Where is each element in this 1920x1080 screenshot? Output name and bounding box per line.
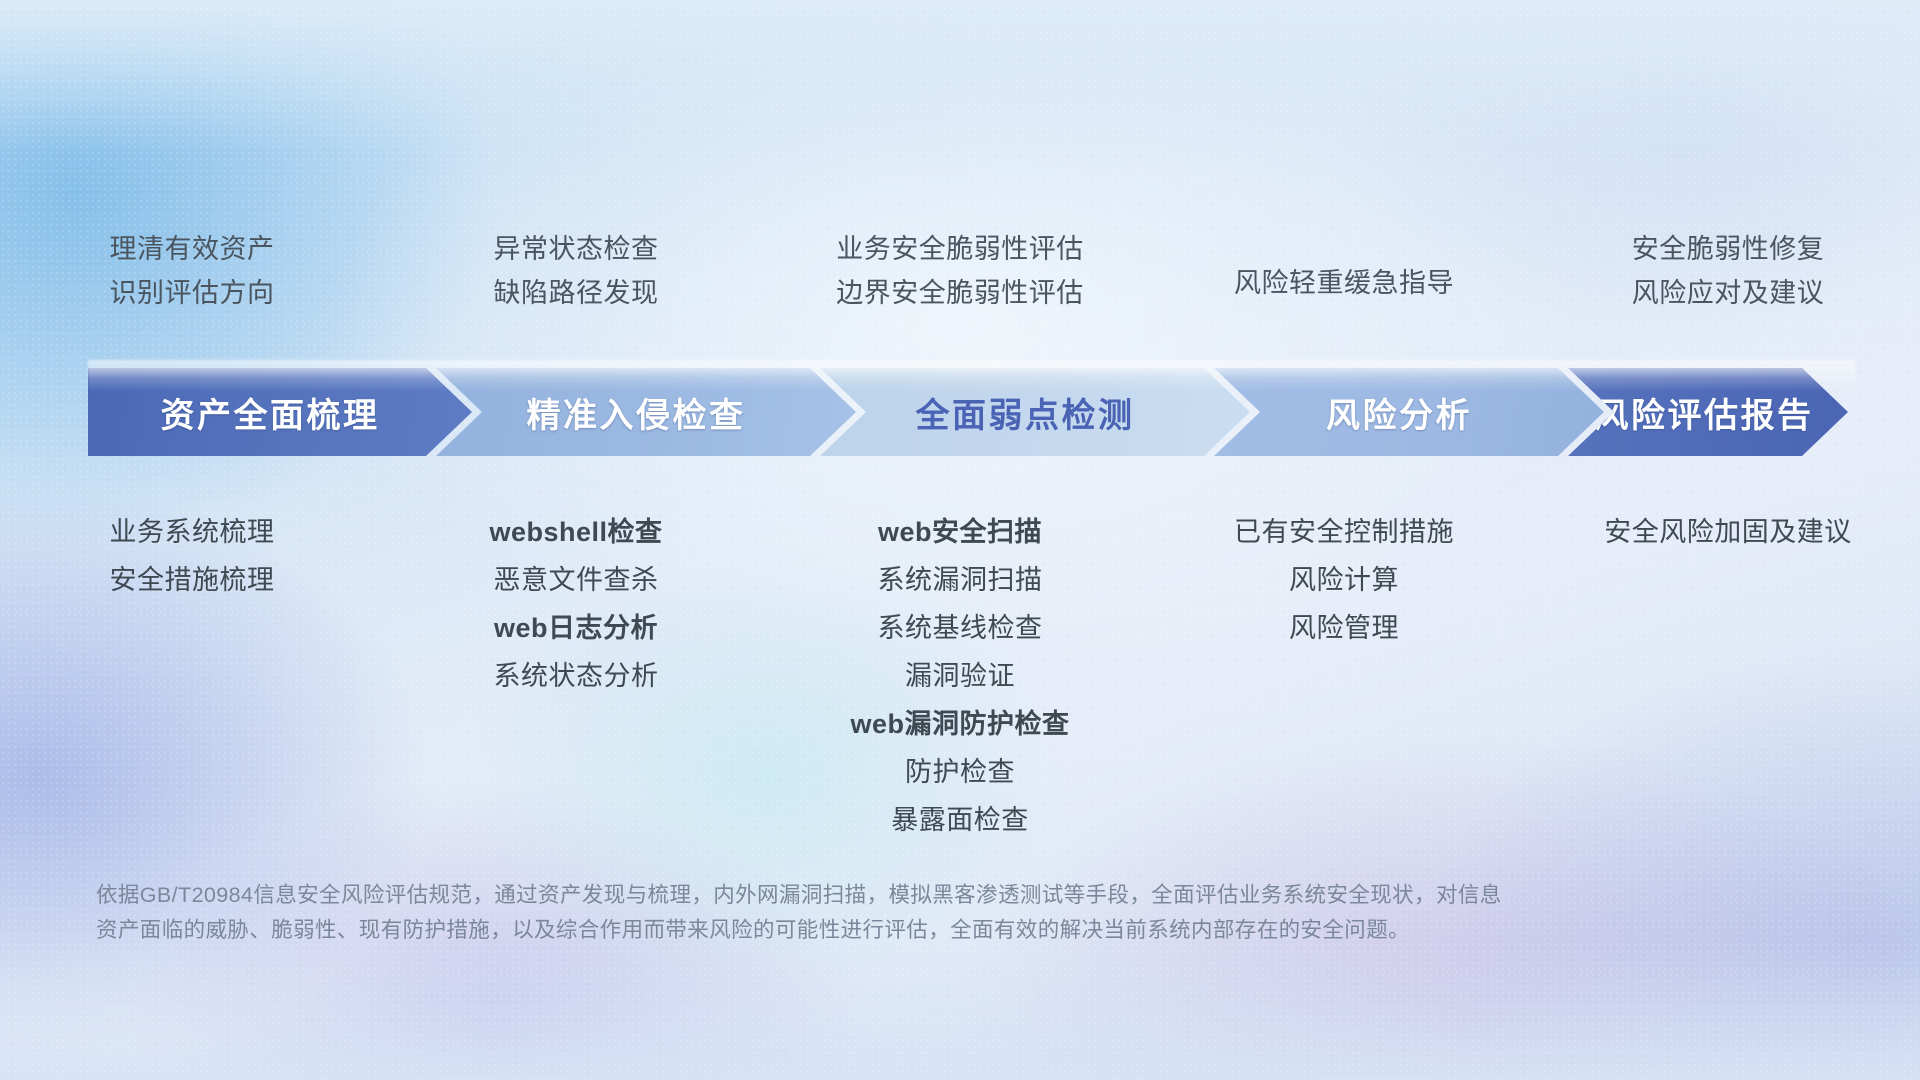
bottom-item: web安全扫描 <box>778 508 1142 556</box>
bottom-item: 漏洞验证 <box>778 652 1142 700</box>
top-caption: 理清有效资产 <box>14 228 370 272</box>
bottom-item: 恶意文件查杀 <box>394 556 758 604</box>
bottom-item: 安全风险加固及建议 <box>1546 508 1910 556</box>
bottom-item: web漏洞防护检查 <box>778 700 1142 748</box>
bottom-item: 业务系统梳理 <box>10 508 374 556</box>
top-caption: 风险应对及建议 <box>1550 272 1906 316</box>
bottom-item: web日志分析 <box>394 604 758 652</box>
bottom-item: 系统基线检查 <box>778 604 1142 652</box>
top-caption: 业务安全脆弱性评估 <box>782 228 1138 272</box>
bottom-items-risk-analysis: 已有安全控制措施风险计算风险管理 <box>1152 508 1536 844</box>
top-caption: 边界安全脆弱性评估 <box>782 272 1138 316</box>
top-captions-asset-inventory: 理清有效资产 识别评估方向 <box>0 228 384 315</box>
chevron-band-shadow <box>88 360 1856 464</box>
footer-description: 依据GB/T20984信息安全风险评估规范，通过资产发现与梳理，内外网漏洞扫描，… <box>96 878 1656 948</box>
bottom-item: 防护检查 <box>778 748 1142 796</box>
top-caption: 异常状态检查 <box>398 228 754 272</box>
bottom-item: webshell检查 <box>394 508 758 556</box>
bottom-items-row: 业务系统梳理安全措施梳理 webshell检查恶意文件查杀web日志分析系统状态… <box>0 508 1920 844</box>
bottom-item: 已有安全控制措施 <box>1162 508 1526 556</box>
top-caption: 识别评估方向 <box>14 272 370 316</box>
bottom-item: 系统状态分析 <box>394 652 758 700</box>
top-captions-row: 理清有效资产 识别评估方向 异常状态检查 缺陷路径发现 业务安全脆弱性评估 边界… <box>0 228 1920 315</box>
bottom-item: 系统漏洞扫描 <box>778 556 1142 604</box>
bottom-items-asset-inventory: 业务系统梳理安全措施梳理 <box>0 508 384 844</box>
top-captions-risk-analysis: 风险轻重缓急指导 <box>1152 228 1536 315</box>
slide-content: 理清有效资产 识别评估方向 异常状态检查 缺陷路径发现 业务安全脆弱性评估 边界… <box>0 0 1920 1080</box>
bottom-item: 风险计算 <box>1162 556 1526 604</box>
top-caption: 风险轻重缓急指导 <box>1166 228 1522 306</box>
top-captions-intrusion-check: 异常状态检查 缺陷路径发现 <box>384 228 768 315</box>
footer-line: 资产面临的威胁、脆弱性、现有防护措施，以及综合作用而带来风险的可能性进行评估，全… <box>96 913 1656 948</box>
top-caption: 安全脆弱性修复 <box>1550 228 1906 272</box>
bottom-item: 安全措施梳理 <box>10 556 374 604</box>
bottom-item: 暴露面检查 <box>778 796 1142 844</box>
bottom-items-weakness-detection: web安全扫描系统漏洞扫描系统基线检查漏洞验证web漏洞防护检查防护检查暴露面检… <box>768 508 1152 844</box>
footer-line: 依据GB/T20984信息安全风险评估规范，通过资产发现与梳理，内外网漏洞扫描，… <box>96 878 1656 913</box>
bottom-item: 风险管理 <box>1162 604 1526 652</box>
top-captions-risk-report: 安全脆弱性修复 风险应对及建议 <box>1536 228 1920 315</box>
top-caption: 缺陷路径发现 <box>398 272 754 316</box>
bottom-items-intrusion-check: webshell检查恶意文件查杀web日志分析系统状态分析 <box>384 508 768 844</box>
top-captions-weakness-detection: 业务安全脆弱性评估 边界安全脆弱性评估 <box>768 228 1152 315</box>
bottom-items-risk-report: 安全风险加固及建议 <box>1536 508 1920 844</box>
